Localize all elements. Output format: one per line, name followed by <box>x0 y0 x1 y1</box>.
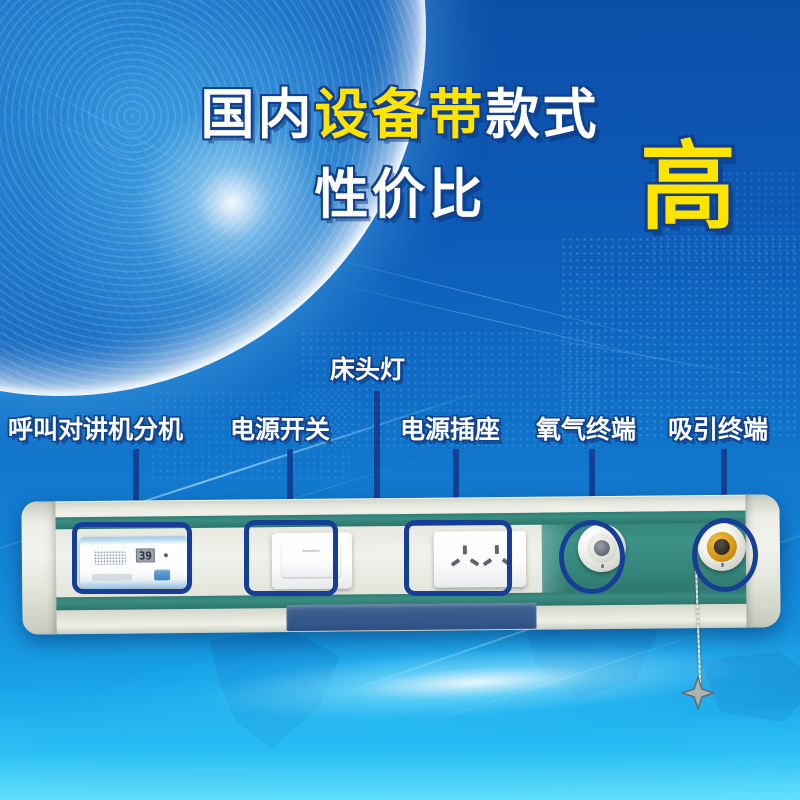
oxygen-ring <box>578 524 626 572</box>
oxygen-core <box>594 540 610 556</box>
oxygen-terminal-outlet[interactable] <box>578 524 626 572</box>
socket-hole-left[interactable] <box>450 545 480 573</box>
oxygen-inner <box>587 533 617 563</box>
socket-hole-right[interactable] <box>482 545 512 573</box>
lower-rail-insert <box>286 603 536 631</box>
intercom-label-slot <box>92 574 132 581</box>
headline-emphasis-word: 高 <box>640 140 736 236</box>
callout-label-oxygen: 氧气终端 <box>536 418 636 443</box>
speaker-grille-icon <box>94 551 126 565</box>
panel-end-cap-right <box>745 494 780 627</box>
headline-part-3: 款式 <box>486 85 600 145</box>
suction-marker <box>720 563 723 567</box>
power-socket-outlet[interactable] <box>434 531 527 588</box>
oxygen-marker <box>601 564 604 568</box>
callout-label-intercom: 呼叫对讲机分机 <box>8 418 183 443</box>
suction-inner <box>707 532 737 562</box>
callout-label-bedlamp: 床头灯 <box>330 358 405 383</box>
callout-label-switch: 电源开关 <box>230 418 330 443</box>
headline-subtitle: 性价比 <box>315 165 486 225</box>
callout-label-outlet: 电源插座 <box>400 418 500 443</box>
suction-core <box>714 539 730 555</box>
intercom-display: 39 <box>136 548 155 562</box>
panel-body: 39 <box>21 494 780 634</box>
indicator-led-icon <box>164 553 168 557</box>
nurse-call-intercom-unit[interactable]: 39 <box>80 536 188 589</box>
switch-rocker[interactable] <box>282 543 340 578</box>
medical-bed-head-unit[interactable]: 39 <box>21 494 780 634</box>
suction-terminal-outlet[interactable] <box>698 523 746 571</box>
headline-part-1: 国内 <box>201 85 315 145</box>
intercom-call-button[interactable] <box>154 569 170 580</box>
suction-ring <box>698 523 746 571</box>
headline-part-2: 设备带 <box>315 85 486 145</box>
panel-end-cap-left <box>21 501 56 634</box>
callout-label-suction: 吸引终端 <box>668 418 768 443</box>
power-switch[interactable] <box>272 532 353 589</box>
